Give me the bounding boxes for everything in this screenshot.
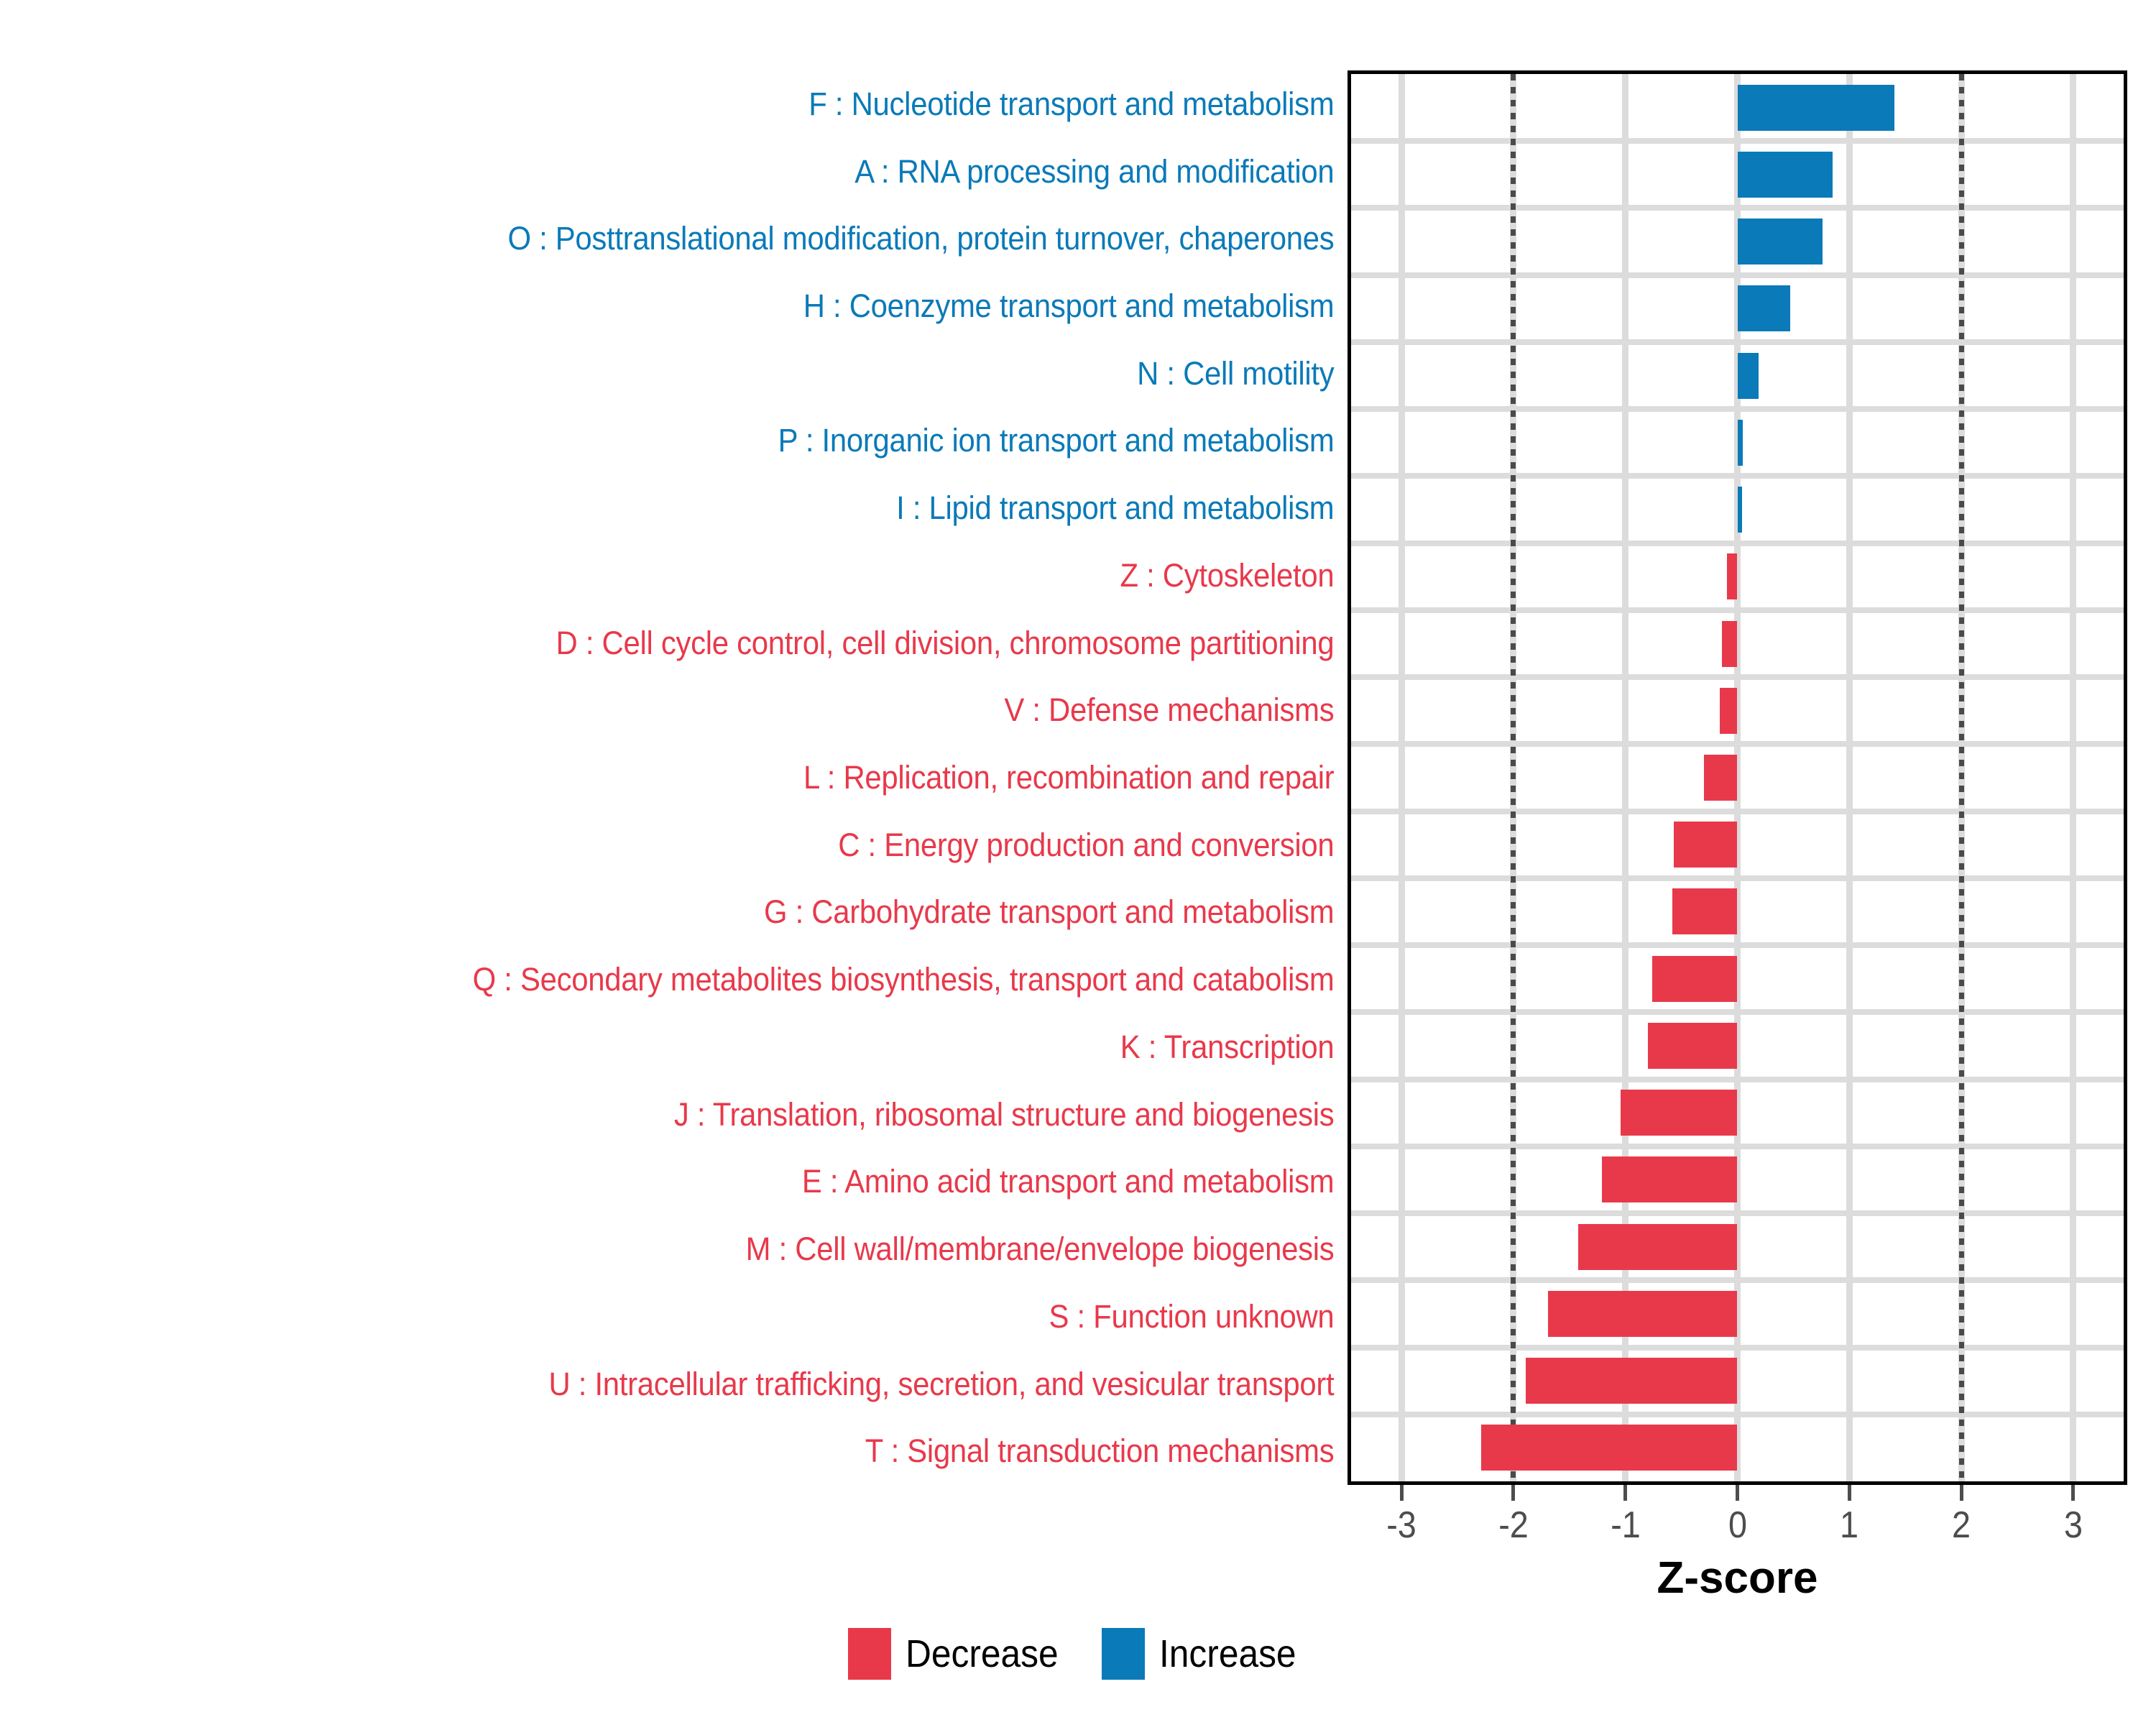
y-axis-label: I : Lipid transport and metabolism — [94, 474, 1347, 542]
x-axis-title: Z-score — [1347, 1552, 2127, 1604]
bar[interactable] — [1722, 621, 1738, 667]
bar-row[interactable] — [1351, 1280, 2124, 1347]
bar[interactable] — [1672, 888, 1737, 934]
x-axis-tick — [1400, 1485, 1404, 1501]
x-axis-tick-label: -1 — [1611, 1504, 1641, 1547]
x-axis-tick-label: -2 — [1498, 1504, 1529, 1547]
legend-key-increase — [1102, 1628, 1145, 1680]
legend: DecreaseIncrease — [0, 1628, 2156, 1680]
x-axis-tick-label: 1 — [1840, 1504, 1858, 1547]
bar[interactable] — [1481, 1425, 1738, 1471]
bar[interactable] — [1738, 285, 1790, 331]
y-axis-label: F : Nucleotide transport and metabolism — [94, 70, 1347, 138]
x-axis-tick — [1960, 1485, 1963, 1501]
x-axis-tick — [1736, 1485, 1739, 1501]
bar-row[interactable] — [1351, 1146, 2124, 1213]
bar[interactable] — [1738, 85, 1894, 131]
bar-row[interactable] — [1351, 543, 2124, 610]
y-axis-label: O : Posttranslational modification, prot… — [94, 205, 1347, 272]
bar-row[interactable] — [1351, 342, 2124, 409]
legend-item[interactable]: Decrease — [848, 1628, 1072, 1680]
bar[interactable] — [1738, 152, 1833, 198]
legend-key-decrease — [848, 1628, 891, 1680]
y-axis-label: D : Cell cycle control, cell division, c… — [94, 609, 1347, 677]
x-axis-tick-label: 2 — [1952, 1504, 1971, 1547]
bar-row[interactable] — [1351, 208, 2124, 275]
bar-row[interactable] — [1351, 1348, 2124, 1414]
bar-row[interactable] — [1351, 476, 2124, 543]
bar[interactable] — [1621, 1090, 1737, 1136]
bar-row[interactable] — [1351, 945, 2124, 1012]
bar-row[interactable] — [1351, 1080, 2124, 1146]
bar-row[interactable] — [1351, 74, 2124, 141]
x-axis-tick — [1623, 1485, 1627, 1501]
x-axis-tick — [1848, 1485, 1851, 1501]
y-axis-label: J : Translation, ribosomal structure and… — [94, 1081, 1347, 1149]
bar-row[interactable] — [1351, 1414, 2124, 1481]
bar-row[interactable] — [1351, 610, 2124, 677]
bar-row[interactable] — [1351, 275, 2124, 342]
bar-row[interactable] — [1351, 409, 2124, 476]
y-axis-label: P : Inorganic ion transport and metaboli… — [94, 408, 1347, 475]
bar[interactable] — [1652, 956, 1737, 1002]
bar[interactable] — [1602, 1156, 1738, 1202]
bar[interactable] — [1548, 1291, 1737, 1337]
x-axis-tick-label: 0 — [1728, 1504, 1746, 1547]
y-axis-label: E : Amino acid transport and metabolism — [94, 1149, 1347, 1216]
y-axis-label: H : Coenzyme transport and metabolism — [94, 272, 1347, 340]
bar[interactable] — [1526, 1358, 1737, 1404]
chart-root: F : Nucleotide transport and metabolismA… — [0, 0, 2156, 1725]
bar-row[interactable] — [1351, 1012, 2124, 1079]
bar[interactable] — [1738, 420, 1743, 466]
bar[interactable] — [1674, 822, 1738, 868]
y-axis-label: Q : Secondary metabolites biosynthesis, … — [94, 946, 1347, 1013]
bar[interactable] — [1738, 353, 1759, 399]
x-axis-tick-label: 3 — [2064, 1504, 2083, 1547]
bar-row[interactable] — [1351, 141, 2124, 208]
legend-item[interactable]: Increase — [1102, 1628, 1308, 1680]
x-axis-tick — [2071, 1485, 2075, 1501]
legend-label: Increase — [1159, 1632, 1296, 1676]
bar[interactable] — [1727, 553, 1737, 599]
bar[interactable] — [1720, 688, 1738, 734]
bar[interactable] — [1648, 1023, 1738, 1069]
y-axis-label: T : Signal transduction mechanisms — [94, 1417, 1347, 1485]
y-axis-label: U : Intracellular trafficking, secretion… — [94, 1351, 1347, 1418]
bar-row[interactable] — [1351, 1213, 2124, 1280]
y-axis-label: G : Carbohydrate transport and metabolis… — [94, 879, 1347, 947]
x-axis-tick-label: -3 — [1386, 1504, 1416, 1547]
legend-label: Decrease — [906, 1632, 1059, 1676]
y-axis-label: L : Replication, recombination and repai… — [94, 744, 1347, 811]
y-axis-category-labels: F : Nucleotide transport and metabolismA… — [0, 70, 1347, 1485]
bar-row[interactable] — [1351, 677, 2124, 744]
bar-row[interactable] — [1351, 744, 2124, 811]
plot-panel — [1347, 70, 2127, 1485]
y-axis-label: A : RNA processing and modification — [94, 138, 1347, 206]
y-axis-label: K : Transcription — [94, 1013, 1347, 1081]
bar[interactable] — [1704, 755, 1738, 801]
y-axis-label: N : Cell motility — [94, 340, 1347, 408]
y-axis-label: V : Defense mechanisms — [94, 676, 1347, 744]
bar[interactable] — [1578, 1224, 1737, 1270]
bar[interactable] — [1738, 487, 1742, 533]
bar-row[interactable] — [1351, 878, 2124, 945]
y-axis-label: S : Function unknown — [94, 1283, 1347, 1351]
bar[interactable] — [1738, 218, 1823, 264]
y-axis-label: M : Cell wall/membrane/envelope biogenes… — [94, 1215, 1347, 1283]
x-axis-tick — [1511, 1485, 1515, 1501]
y-axis-label: C : Energy production and conversion — [94, 811, 1347, 879]
bar-row[interactable] — [1351, 811, 2124, 878]
plot-panel-inner — [1351, 74, 2124, 1481]
y-axis-label: Z : Cytoskeleton — [94, 542, 1347, 609]
